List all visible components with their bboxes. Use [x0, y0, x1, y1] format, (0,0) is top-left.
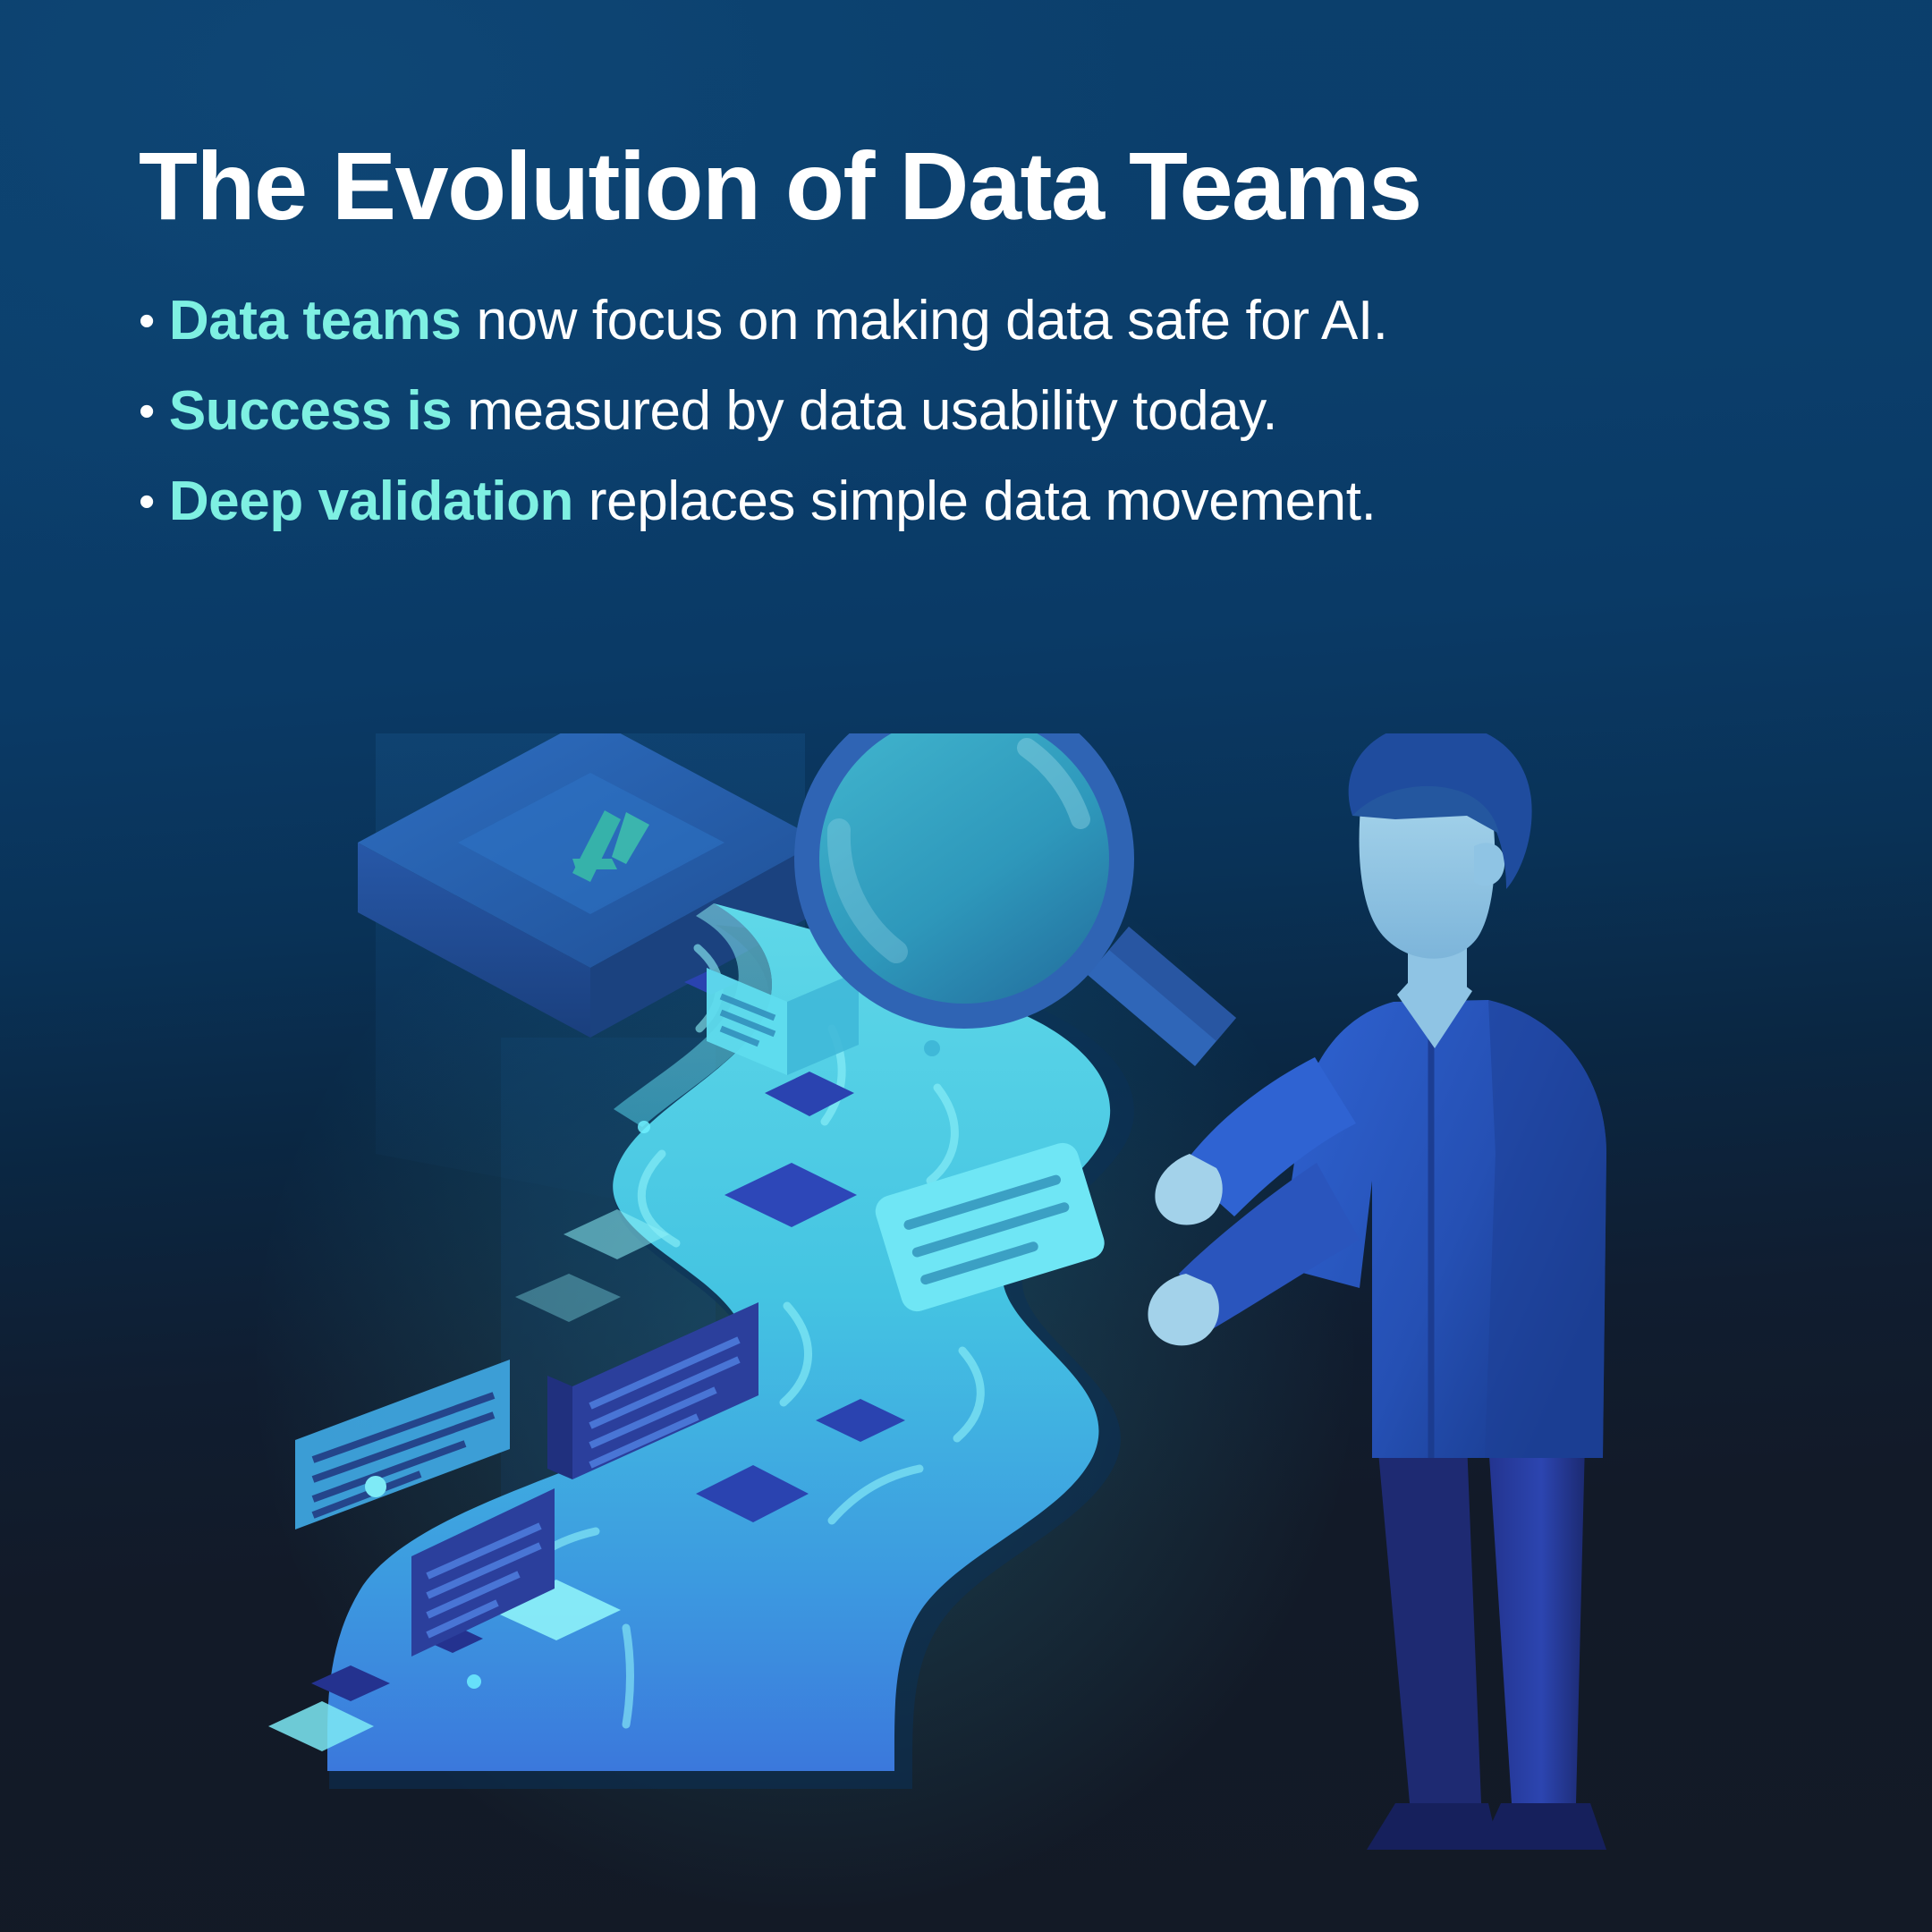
bullet-marker-icon: • — [139, 295, 169, 347]
person-front-leg — [1488, 1442, 1585, 1803]
bullet-item-1: •Data teams now focus on making data saf… — [139, 284, 1838, 358]
glow-speck — [638, 1121, 650, 1133]
magnifier-drop-speck — [924, 1040, 940, 1056]
glow-speck — [467, 1674, 481, 1689]
bullet-2-text: measured by data usability today. — [452, 380, 1277, 442]
person-back-shoe — [1367, 1803, 1499, 1850]
person-back-leg — [1377, 1442, 1481, 1803]
bullet-1-accent: Data teams — [169, 290, 462, 352]
person-ear — [1474, 843, 1504, 885]
bullet-list: •Data teams now focus on making data saf… — [139, 284, 1838, 538]
data-pipeline-illustration — [0, 733, 1932, 1932]
bullet-item-2: •Success is measured by data usability t… — [139, 374, 1838, 448]
bullet-marker-icon: • — [139, 476, 169, 528]
bullet-3-accent: Deep validation — [169, 470, 573, 532]
person-front-shoe — [1479, 1803, 1606, 1850]
bullet-item-3: •Deep validation replaces simple data mo… — [139, 464, 1838, 538]
page-title: The Evolution of Data Teams — [139, 134, 1838, 239]
bullet-3-text: replaces simple data movement. — [573, 470, 1376, 532]
bullet-2-accent: Success is — [169, 380, 453, 442]
illustration-svg — [0, 733, 1932, 1932]
bullet-marker-icon: • — [139, 386, 169, 437]
bullet-1-text: now focus on making data safe for AI. — [462, 290, 1388, 352]
slide-canvas: The Evolution of Data Teams •Data teams … — [0, 0, 1932, 1932]
text-content: The Evolution of Data Teams •Data teams … — [139, 134, 1838, 555]
person-jacket-shade — [1485, 1000, 1606, 1458]
